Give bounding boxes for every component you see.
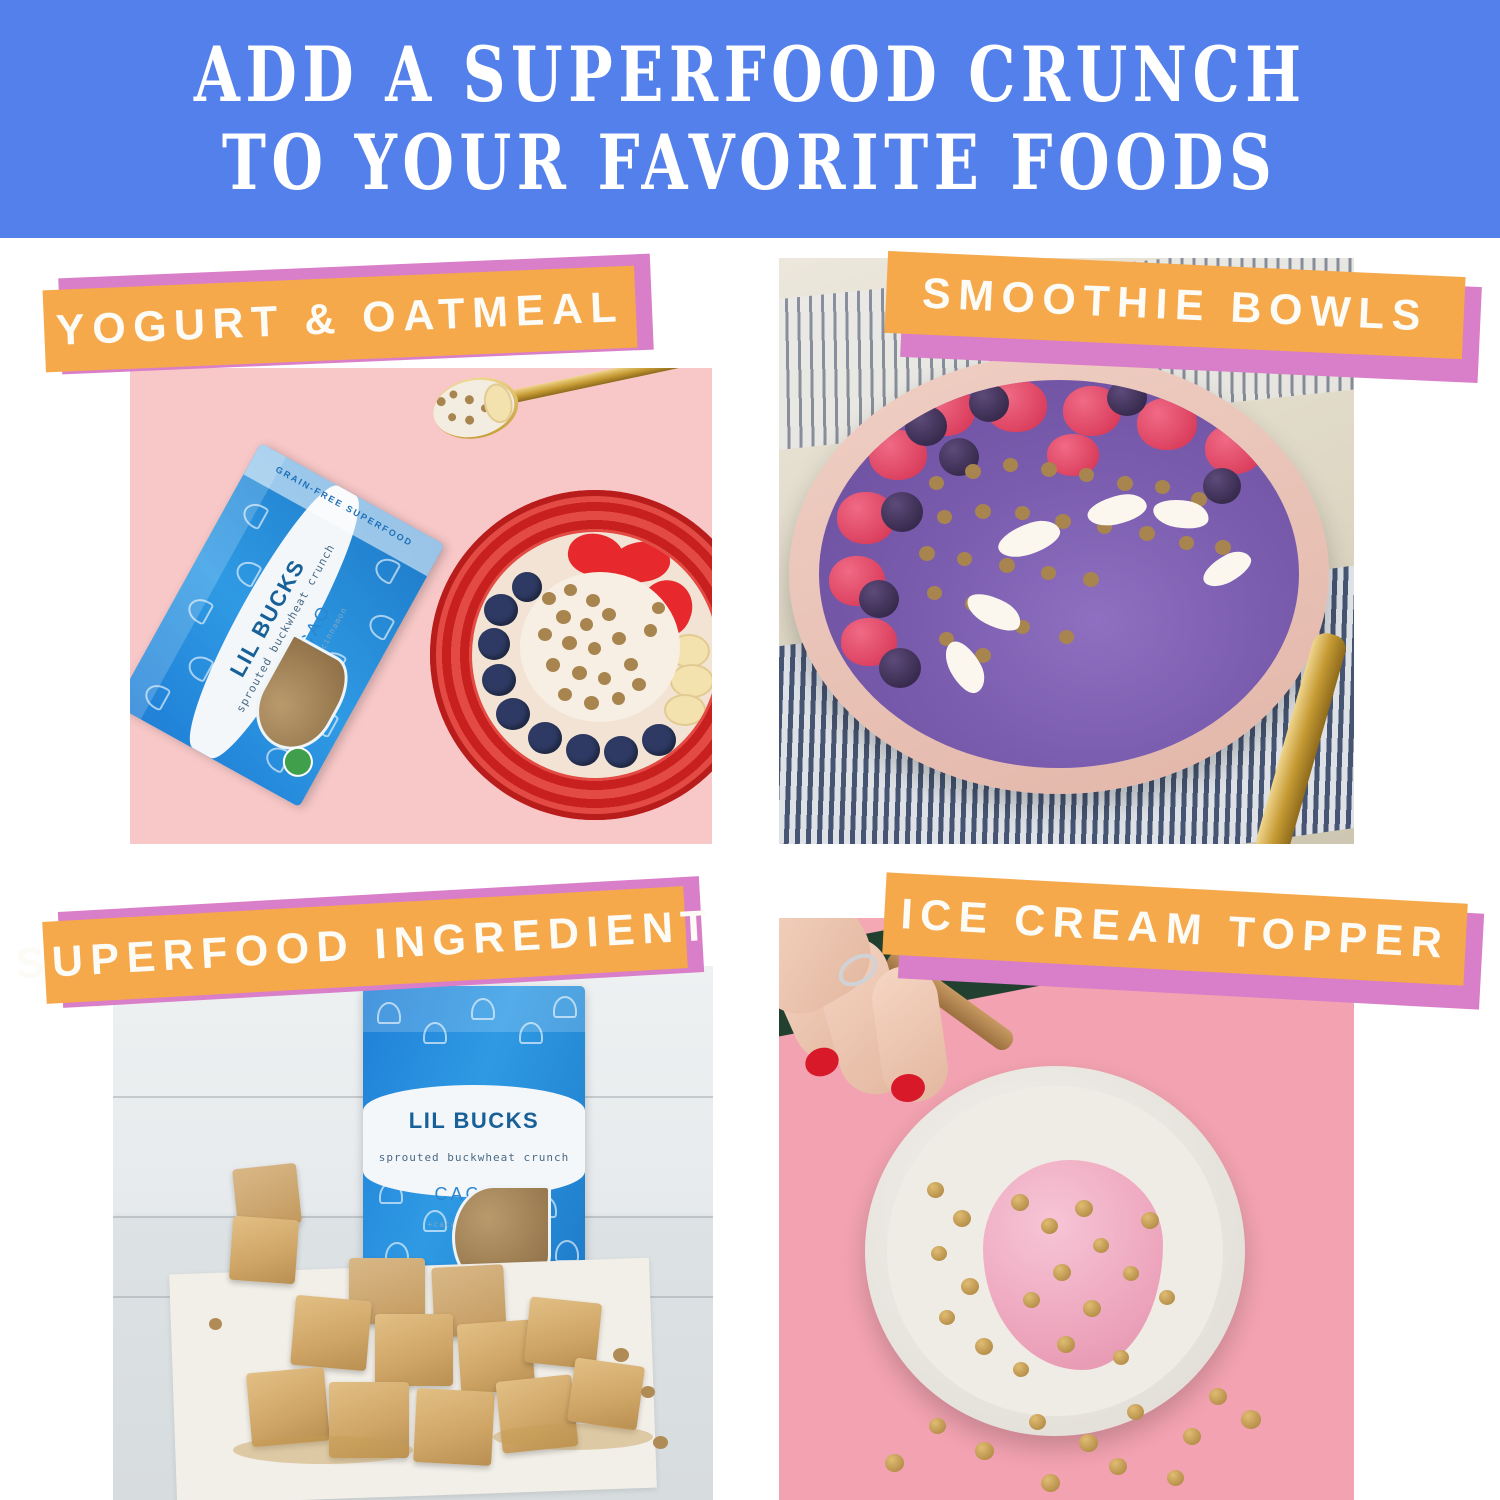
bowl-contents <box>472 532 712 778</box>
buckwheat-cluster <box>1029 1414 1046 1430</box>
buckwheat-bit <box>538 628 552 641</box>
buckwheat-bit <box>1059 630 1074 644</box>
buckwheat-bit <box>580 618 593 631</box>
crumb <box>613 1348 629 1362</box>
blush-ceramic-bowl <box>789 354 1329 794</box>
crumb <box>641 1386 655 1398</box>
buckwheat-bit <box>1179 536 1194 550</box>
buckwheat-cluster <box>975 1338 993 1355</box>
buckwheat-bit <box>1041 566 1056 580</box>
buckwheat-bit <box>464 394 475 405</box>
buckwheat-bit <box>1003 458 1018 472</box>
blueberry <box>484 594 518 626</box>
buckwheat-cluster <box>961 1278 979 1295</box>
label-text: ICE CREAM TOPPER <box>899 890 1450 969</box>
raspberry <box>1137 398 1197 450</box>
package-descriptor: sprouted buckwheat crunch <box>363 1151 585 1164</box>
buckwheat-bit <box>624 658 638 671</box>
photo-yogurt-oatmeal: LIL BUCKS sprouted buckwheat crunch CACA… <box>130 368 712 844</box>
buckwheat-bit <box>464 415 475 426</box>
buckwheat-bit <box>1117 476 1133 491</box>
buckwheat-bit <box>1139 526 1155 541</box>
buckwheat-cluster <box>953 1210 971 1227</box>
buckwheat-cluster <box>1075 1200 1093 1217</box>
buckwheat-cluster <box>1083 1300 1101 1317</box>
label-text: YOGURT & OATMEAL <box>55 283 625 356</box>
buckwheat-cluster <box>885 1454 904 1472</box>
blueberry <box>496 698 530 730</box>
buckwheat-bit <box>957 552 972 566</box>
buckwheat-bit <box>436 396 447 407</box>
buckwheat-bit <box>602 608 616 621</box>
blueberry <box>642 724 676 756</box>
buckwheat-cluster <box>1041 1474 1060 1492</box>
buckwheat-cluster <box>975 1442 994 1460</box>
buckwheat-bit <box>937 510 952 524</box>
buckwheat-cluster <box>1141 1212 1159 1229</box>
buckwheat-bit <box>449 390 458 399</box>
blueberry <box>528 722 562 754</box>
buckwheat-cluster <box>1053 1264 1071 1281</box>
buckwheat-cluster <box>1167 1470 1184 1486</box>
buckwheat-cluster <box>929 1418 946 1434</box>
buckwheat-bit <box>999 558 1015 573</box>
buckwheat-cluster <box>1183 1428 1201 1445</box>
buckwheat-bit <box>542 592 556 605</box>
buckwheat-cluster <box>1013 1362 1029 1377</box>
energy-bar-cube <box>375 1314 453 1386</box>
buckwheat-bit <box>644 624 657 637</box>
header-title-line-1: ADD A SUPERFOOD CRUNCH <box>194 36 1307 114</box>
infographic-page: ADD A SUPERFOOD CRUNCH TO YOUR FAVORITE … <box>0 0 1500 1500</box>
photo-superfood-ingredient: LIL BUCKS sprouted buckwheat crunch CACA… <box>113 966 713 1500</box>
buckwheat-bit <box>572 666 587 680</box>
buckwheat-cluster <box>1159 1290 1175 1305</box>
buckwheat-cluster <box>1041 1218 1058 1234</box>
buckwheat-bit <box>558 688 572 701</box>
buckwheat-cluster <box>1241 1410 1261 1429</box>
buckwheat-doodle-icon <box>555 1240 579 1262</box>
buckwheat-bit <box>612 692 625 705</box>
blueberry <box>512 572 542 602</box>
buckwheat-cluster <box>1093 1238 1109 1253</box>
blueberry <box>905 406 947 446</box>
coconut-flake <box>994 515 1064 563</box>
buckwheat-bit <box>546 658 560 672</box>
blueberry <box>604 736 638 768</box>
blueberry <box>859 580 899 618</box>
buckwheat-bit <box>447 412 456 421</box>
buckwheat-bit <box>965 464 981 479</box>
banana-slice <box>664 694 706 726</box>
blueberry <box>1203 468 1241 504</box>
buckwheat-bit <box>612 632 626 645</box>
label-ice-cream-topper: ICE CREAM TOPPER <box>884 884 1488 1014</box>
buckwheat-bit <box>564 584 577 596</box>
buckwheat-cluster <box>1023 1292 1040 1308</box>
buckwheat-bit <box>632 678 646 691</box>
buckwheat-bit <box>588 642 601 655</box>
buckwheat-cluster <box>1011 1194 1029 1211</box>
buckwheat-bit <box>584 696 599 710</box>
package-label-band <box>363 1085 585 1197</box>
buckwheat-bit <box>1041 462 1057 477</box>
crumb <box>653 1436 668 1449</box>
buckwheat-bit <box>562 636 577 650</box>
buckwheat-cluster <box>1123 1266 1139 1281</box>
label-superfood-ingredient: SUPERFOOD INGREDIENT <box>44 890 708 1016</box>
buckwheat-cluster <box>1109 1458 1127 1475</box>
buckwheat-doodle-icon <box>365 610 396 642</box>
label-yogurt-oatmeal: YOGURT & OATMEAL <box>44 266 652 386</box>
buckwheat-bit <box>919 546 935 561</box>
coconut-flake <box>1085 490 1150 530</box>
buckwheat-cluster <box>1209 1388 1227 1405</box>
buckwheat-bit <box>586 594 600 607</box>
crumb <box>209 1318 222 1330</box>
blueberry <box>879 648 921 688</box>
caramel-drizzle <box>493 1424 653 1450</box>
buckwheat-bit <box>1015 506 1030 520</box>
buckwheat-cluster <box>1079 1434 1098 1452</box>
buckwheat-bit <box>598 672 611 685</box>
buckwheat-cluster <box>1113 1350 1129 1365</box>
buckwheat-bit <box>927 586 942 600</box>
energy-bar-cube <box>290 1295 372 1371</box>
buckwheat-cluster <box>931 1246 947 1261</box>
buckwheat-bit <box>556 610 571 624</box>
energy-bar-cube <box>229 1216 299 1284</box>
buckwheat-bit <box>1155 480 1170 494</box>
blueberry <box>566 734 600 766</box>
smoothie-surface <box>819 380 1299 768</box>
label-text: SMOOTHIE BOWLS <box>921 269 1429 341</box>
energy-bar-cube <box>567 1357 645 1430</box>
buckwheat-cluster <box>939 1310 955 1325</box>
buckwheat-bit <box>652 602 665 614</box>
buckwheat-bit <box>1083 572 1099 587</box>
caramel-drizzle <box>233 1436 413 1464</box>
header-banner: ADD A SUPERFOOD CRUNCH TO YOUR FAVORITE … <box>0 0 1500 238</box>
buckwheat-bit <box>975 504 991 519</box>
blueberry <box>478 628 510 660</box>
buckwheat-bit <box>1079 468 1094 482</box>
raspberry <box>1205 424 1263 474</box>
package-brand-name: LIL BUCKS <box>363 1108 585 1134</box>
blueberry <box>881 492 923 532</box>
energy-bar-cube <box>413 1388 495 1466</box>
blueberry <box>482 664 516 696</box>
buckwheat-cluster <box>1057 1336 1075 1353</box>
buckwheat-bit <box>929 476 944 490</box>
buckwheat-cluster <box>1127 1404 1144 1420</box>
label-smoothie-bowls: SMOOTHIE BOWLS <box>886 260 1486 390</box>
header-title-line-2: TO YOUR FAVORITE FOODS <box>222 124 1277 202</box>
buckwheat-cluster <box>927 1182 944 1198</box>
